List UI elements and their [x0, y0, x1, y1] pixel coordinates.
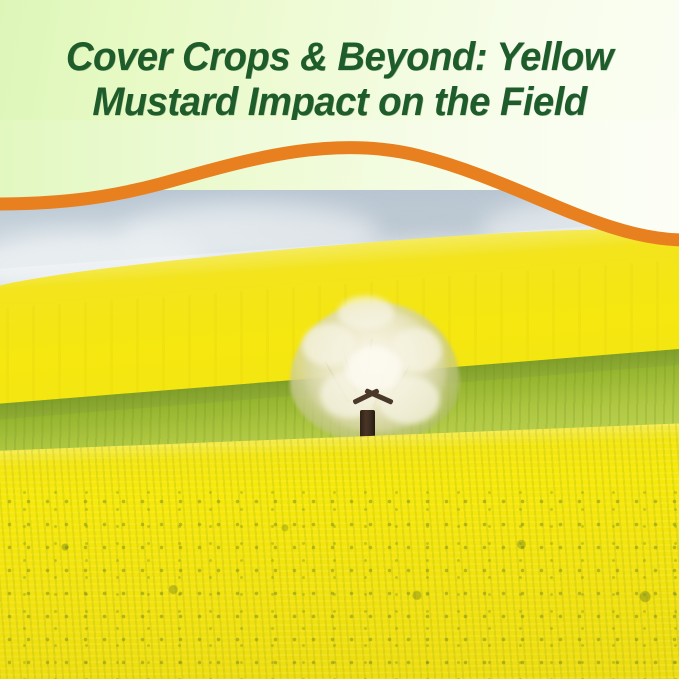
rapeseed-field-photo — [0, 190, 679, 679]
poster-canvas: Cover Crops & Beyond: Yellow Mustard Imp… — [0, 0, 679, 679]
near-field-speckle — [0, 490, 679, 679]
tree-blossom-tuft — [338, 296, 394, 330]
tree-blossom-tuft — [346, 346, 402, 392]
photo-inner — [0, 190, 679, 679]
